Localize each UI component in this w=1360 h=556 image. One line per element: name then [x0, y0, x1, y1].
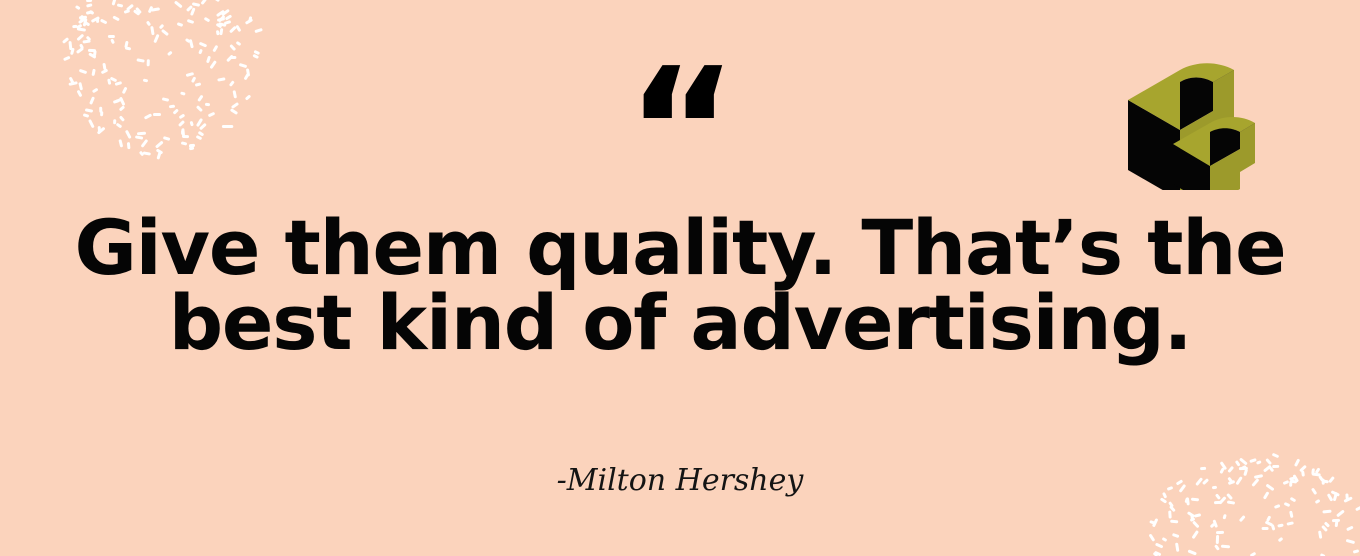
quote-card: “ Give them quality. That’s the best kin…: [0, 0, 1360, 556]
decorative-dash: [1216, 535, 1219, 544]
decorative-dash: [1321, 525, 1328, 532]
decorative-dash: [96, 18, 99, 23]
decorative-dash: [248, 16, 252, 23]
decorative-dash: [229, 26, 237, 34]
decorative-dash: [86, 35, 92, 41]
decorative-dash: [174, 0, 183, 8]
decorative-dash: [110, 38, 115, 44]
decorative-dash: [1168, 501, 1174, 508]
decorative-dash: [71, 25, 77, 28]
decorative-dash: [85, 4, 92, 9]
decorative-dash: [211, 0, 220, 2]
decorative-dash: [224, 20, 232, 25]
decorative-dash: [1154, 550, 1162, 556]
decorative-dash: [1227, 501, 1235, 505]
decorative-dash: [1190, 514, 1194, 521]
decorative-dash: [186, 5, 193, 12]
decorative-dash: [216, 30, 220, 36]
decorative-dash: [1344, 496, 1353, 502]
decorative-dash: [1209, 523, 1215, 529]
decorative-dash: [1149, 520, 1155, 525]
decorative-dash: [1214, 501, 1222, 504]
decorative-dash: [1290, 497, 1296, 503]
decorative-dash: [1187, 511, 1195, 518]
decorative-dash: [77, 28, 86, 32]
decorative-dash: [236, 40, 242, 45]
decorative-dash: [62, 37, 69, 44]
decorative-dash: [1152, 518, 1158, 527]
decorative-dash: [74, 4, 80, 9]
decorative-dash: [1161, 537, 1167, 542]
quote-text: Give them quality. That’s the best kind …: [60, 210, 1300, 360]
decorative-dash: [100, 19, 108, 25]
decorative-dash: [1355, 506, 1360, 512]
decorative-dash: [1250, 552, 1257, 556]
decorative-dash: [1170, 520, 1178, 524]
decorative-dash: [135, 7, 142, 14]
decorative-dash: [1212, 519, 1218, 528]
decorative-dash: [1185, 498, 1189, 504]
decorative-dash: [1218, 496, 1226, 504]
opening-quote-mark: “: [0, 46, 1360, 216]
decorative-dash: [1160, 497, 1168, 503]
decorative-dash: [218, 22, 227, 27]
decorative-dash: [1172, 533, 1180, 538]
decorative-dash: [200, 0, 207, 6]
decorative-dash: [1289, 511, 1293, 518]
decorative-dash: [124, 9, 131, 14]
decorative-dash: [76, 34, 84, 42]
decorative-dash: [216, 22, 222, 27]
decorative-dash: [1175, 543, 1179, 552]
decorative-dash: [86, 0, 92, 2]
decorative-dash: [245, 18, 253, 25]
decorative-dash: [1185, 498, 1189, 506]
decorative-dash: [218, 15, 226, 22]
decorative-dash: [1274, 504, 1281, 509]
decorative-dash: [1169, 505, 1176, 512]
decorative-dash: [204, 16, 210, 22]
decorative-dash: [216, 10, 225, 17]
decorative-dash: [1239, 515, 1246, 522]
decorative-dash: [1255, 460, 1261, 465]
decorative-dash: [1278, 537, 1284, 543]
decorative-dash: [83, 20, 89, 25]
decorative-dash: [1155, 543, 1164, 549]
decorative-dash: [86, 10, 94, 15]
decorative-dash: [1336, 510, 1345, 518]
decorative-dash: [153, 34, 159, 43]
decorative-dash: [77, 17, 86, 24]
decorative-dash: [1346, 525, 1354, 531]
decorative-dash: [217, 17, 225, 22]
decorative-dash: [192, 2, 200, 7]
decorative-dash: [1314, 499, 1320, 504]
decorative-dash: [1335, 520, 1339, 527]
decorative-dash: [1264, 520, 1272, 526]
decorative-dash: [1191, 497, 1199, 501]
decorative-dash: [1221, 545, 1230, 549]
decorative-dash: [126, 4, 134, 11]
decorative-dash: [1345, 539, 1354, 544]
decorative-dash: [1148, 533, 1155, 541]
decorative-dash: [1262, 527, 1269, 530]
decorative-dash: [1318, 530, 1322, 539]
decorative-dash: [184, 38, 190, 43]
quote-attribution: -Milton Hershey: [0, 466, 1360, 496]
decorative-dash: [1152, 552, 1158, 556]
decorative-dash: [150, 26, 154, 35]
decorative-dash: [1278, 523, 1284, 527]
decorative-dash: [1222, 513, 1226, 519]
decorative-dash: [187, 19, 195, 24]
decorative-dash: [159, 23, 165, 29]
decorative-dash: [254, 28, 262, 33]
decorative-dash: [236, 24, 242, 31]
decorative-dash: [1189, 517, 1195, 522]
decorative-dash: [1286, 521, 1293, 525]
decorative-dash: [79, 14, 84, 20]
decorative-dash: [1332, 519, 1340, 523]
decorative-dash: [1168, 510, 1172, 518]
decorative-dash: [161, 29, 169, 36]
decorative-dash: [1324, 521, 1330, 527]
decorative-dash: [1265, 458, 1272, 465]
decorative-dash: [112, 15, 119, 21]
decorative-dash: [1188, 550, 1197, 556]
decorative-dash: [1266, 515, 1271, 521]
decorative-dash: [221, 9, 230, 17]
decorative-dash: [82, 18, 87, 27]
decorative-dash: [1239, 457, 1248, 465]
decorative-dash: [1214, 544, 1220, 551]
decorative-dash: [75, 24, 82, 30]
decorative-dash: [1323, 509, 1332, 513]
decorative-dash: [89, 9, 95, 14]
decorative-dash: [1250, 458, 1257, 463]
decorative-dash: [78, 15, 87, 19]
decorative-dash: [111, 0, 116, 6]
decorative-dash: [1283, 502, 1290, 507]
decorative-dash: [1194, 513, 1201, 517]
decorative-dash: [190, 7, 196, 15]
decorative-dash: [1192, 530, 1199, 539]
decorative-dash: [91, 16, 100, 23]
decorative-dash: [151, 8, 160, 12]
decorative-dash: [116, 3, 123, 7]
decorative-dash: [1271, 524, 1276, 531]
decorative-dash: [147, 6, 153, 14]
decorative-dash: [132, 9, 140, 16]
decorative-dash: [1353, 549, 1359, 553]
decorative-dash: [1192, 520, 1199, 528]
decorative-dash: [146, 20, 151, 26]
decorative-dash: [108, 35, 115, 38]
decorative-dash: [177, 22, 183, 27]
decorative-dash: [220, 28, 224, 35]
decorative-dash: [83, 39, 91, 43]
decorative-dash: [1216, 531, 1224, 534]
decorative-dash: [225, 14, 232, 20]
decorative-dash: [1271, 452, 1279, 458]
